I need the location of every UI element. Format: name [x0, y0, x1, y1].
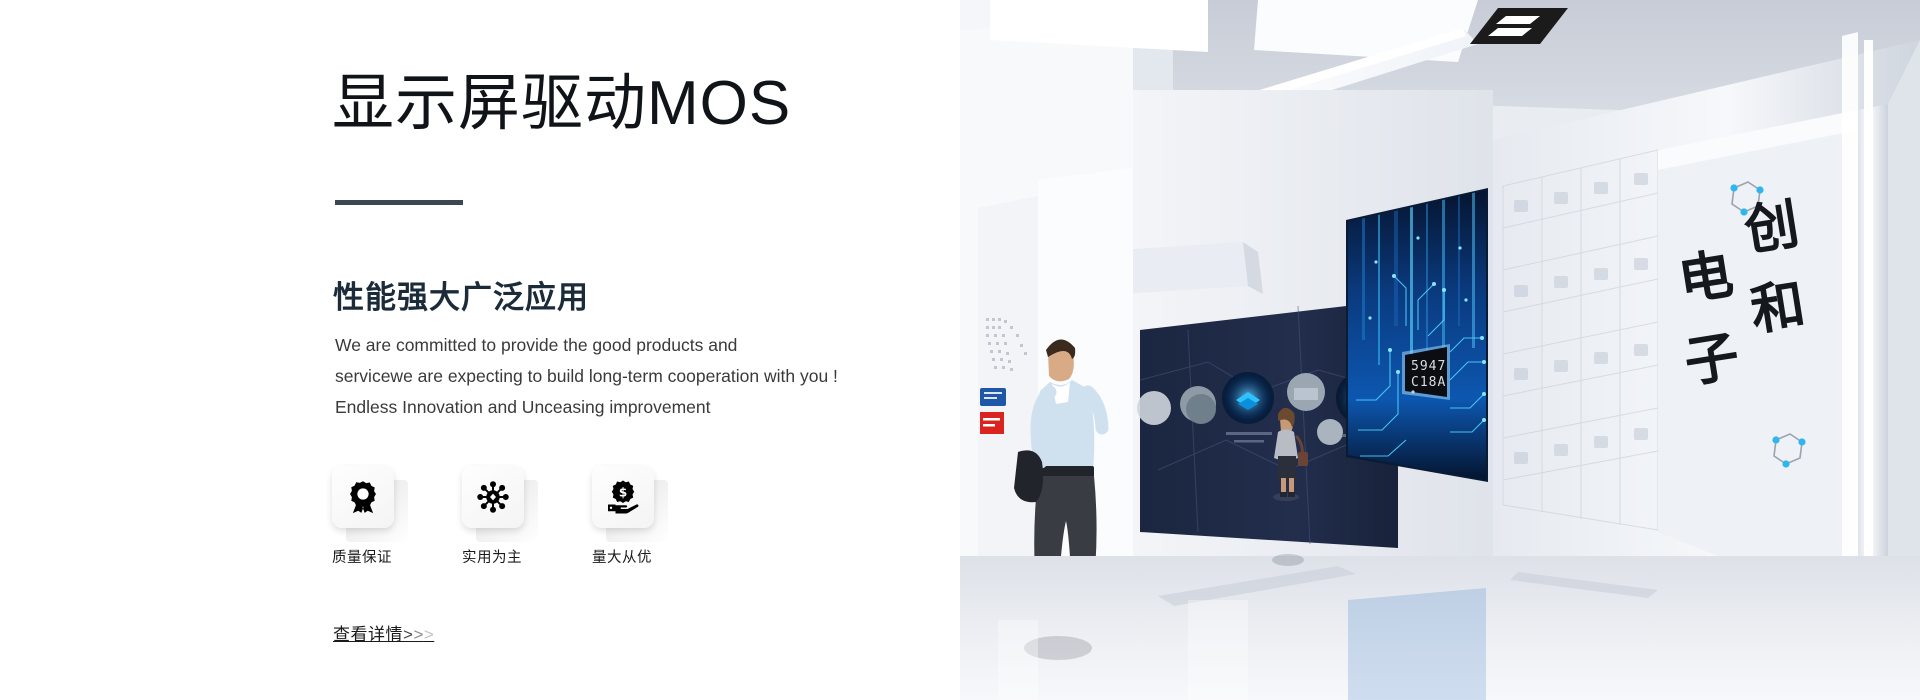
hero-banner: 5947 C18A	[0, 0, 1920, 700]
hand-coin-icon: $	[605, 479, 641, 515]
chevron-1-icon: >	[403, 625, 413, 644]
feature-label-bulk-discount: 量大从优	[592, 546, 664, 567]
text-panel: 显示屏驱动MOS 性能强大广泛应用 We are committed to pr…	[0, 0, 960, 700]
description-line-2: servicewe are expecting to build long-te…	[335, 361, 875, 392]
showroom-photo: 5947 C18A	[958, 0, 1920, 700]
feature-label-quality: 质量保证	[332, 546, 404, 567]
svg-text:创: 创	[1740, 192, 1803, 263]
network-hub-icon	[475, 479, 511, 515]
description-line-3: Endless Innovation and Unceasing improve…	[335, 392, 875, 423]
svg-text:电: 电	[1674, 242, 1737, 313]
title-divider	[335, 200, 463, 205]
chevron-2-icon: >	[413, 625, 423, 644]
svg-text:和: 和	[1746, 272, 1809, 343]
feature-label-practical: 实用为主	[462, 546, 534, 567]
subtitle: 性能强大广泛应用	[333, 272, 589, 317]
award-ribbon-icon	[345, 479, 381, 515]
feature-practical[interactable]: 实用为主	[462, 466, 534, 567]
page-title: 显示屏驱动MOS	[332, 66, 791, 142]
svg-text:子: 子	[1680, 324, 1743, 395]
feature-quality[interactable]: 质量保证	[332, 466, 404, 567]
feature-tile-bulk-discount[interactable]: $	[592, 466, 654, 528]
svg-text:C18A: C18A	[1411, 375, 1446, 390]
feature-tile-quality[interactable]	[332, 466, 394, 528]
chevron-3-icon: >	[424, 625, 434, 644]
view-details-link[interactable]: 查看详情>>>	[333, 620, 434, 645]
description-paragraph: We are committed to provide the good pro…	[335, 330, 875, 423]
view-details-label: 查看详情	[333, 625, 403, 644]
led-display-screen: 5947 C18A	[1346, 188, 1488, 482]
feature-bulk-discount[interactable]: $ 量大从优	[592, 466, 664, 567]
description-line-1: We are committed to provide the good pro…	[335, 330, 875, 361]
svg-text:$: $	[619, 485, 627, 499]
feature-list: 质量保证	[332, 466, 664, 567]
svg-text:5947: 5947	[1411, 359, 1446, 374]
feature-tile-practical[interactable]	[462, 466, 524, 528]
